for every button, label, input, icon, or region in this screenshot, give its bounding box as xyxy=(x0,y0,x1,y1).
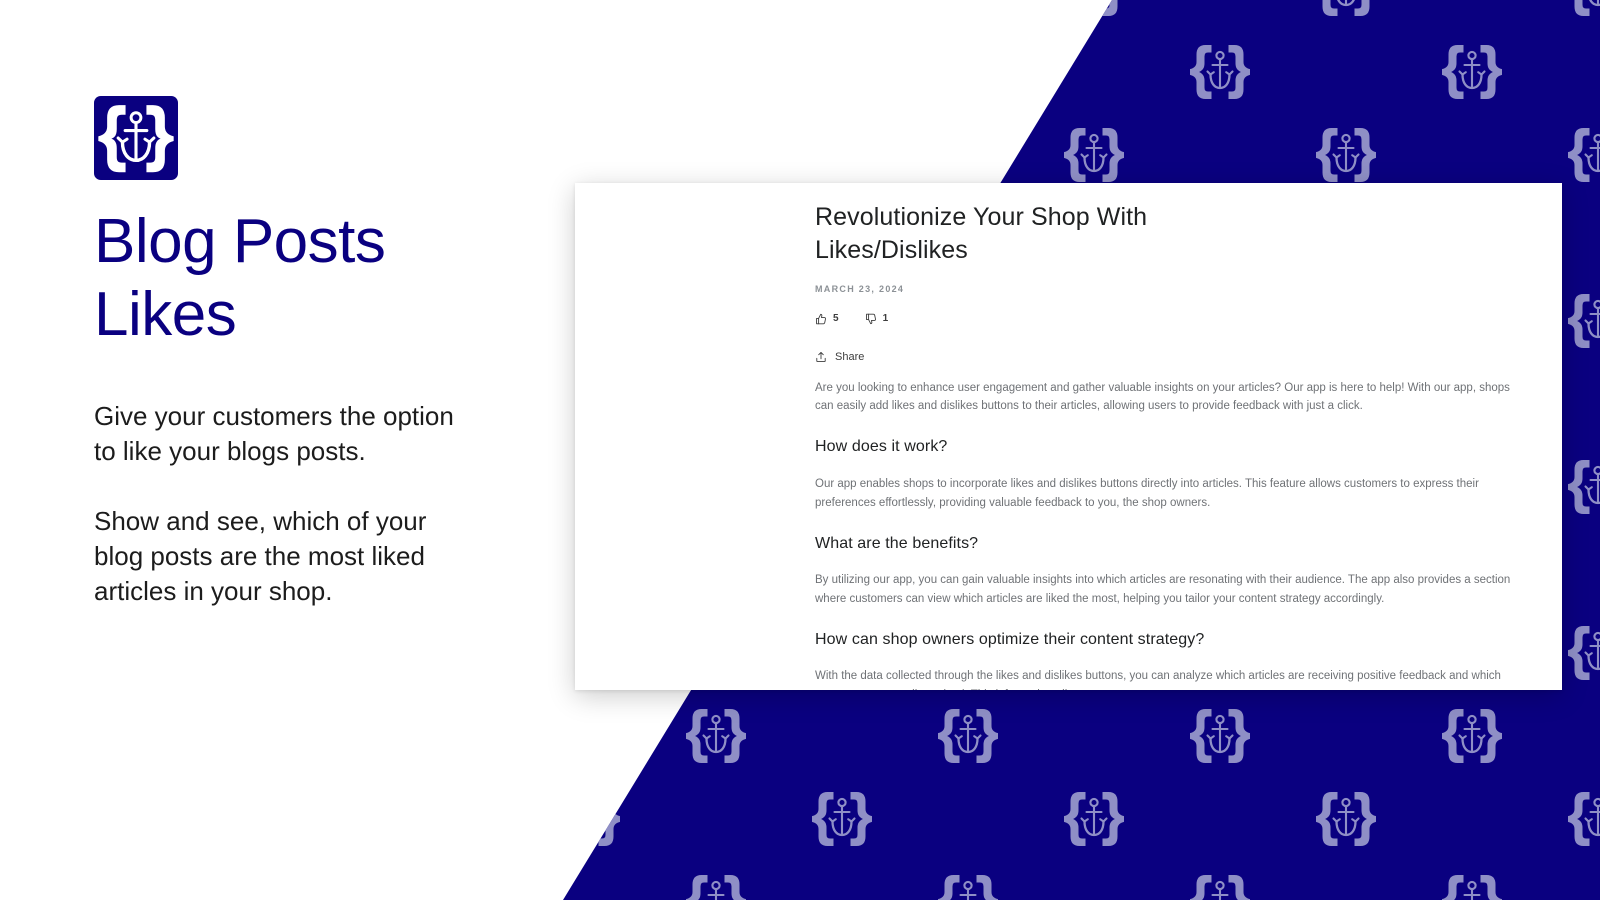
article-title: Revolutionize Your Shop With Likes/Disli… xyxy=(815,191,1515,268)
article-screenshot-card: Revolutionize Your Shop With Likes/Disli… xyxy=(575,183,1562,690)
dislike-button[interactable]: 1 xyxy=(865,313,889,325)
share-label: Share xyxy=(835,351,864,363)
promo-banner: Blog Posts Likes Give your customers the… xyxy=(0,0,1600,900)
reaction-row: 5 1 xyxy=(815,294,1515,325)
article-paragraph: With the data collected through the like… xyxy=(815,651,1515,690)
share-icon xyxy=(815,351,827,363)
hero-text-column: Blog Posts Likes Give your customers the… xyxy=(94,96,564,608)
article-section-heading: What are the benefits? xyxy=(815,513,1515,555)
hero-paragraph-1: Give your customers the option to like y… xyxy=(94,351,564,468)
article-section-heading: How does it work? xyxy=(815,416,1515,458)
hero-paragraph-2: Show and see, which of your blog posts a… xyxy=(94,468,564,608)
article-date: MARCH 23, 2024 xyxy=(815,268,1515,294)
thumbs-down-icon xyxy=(865,313,877,325)
article-content: Revolutionize Your Shop With Likes/Disli… xyxy=(815,191,1515,690)
thumbs-up-icon xyxy=(815,313,827,325)
article-section-heading: How can shop owners optimize their conte… xyxy=(815,609,1515,651)
article-paragraph: Are you looking to enhance user engageme… xyxy=(815,363,1515,417)
like-count: 5 xyxy=(833,313,839,324)
like-button[interactable]: 5 xyxy=(815,313,839,325)
dislike-count: 1 xyxy=(883,313,889,324)
article-paragraph: By utilizing our app, you can gain valua… xyxy=(815,555,1515,609)
article-paragraph: Our app enables shops to incorporate lik… xyxy=(815,459,1515,513)
braces-anchor-logo-icon xyxy=(94,96,178,180)
share-button[interactable]: Share xyxy=(815,325,1515,363)
page-title: Blog Posts Likes xyxy=(94,180,564,351)
